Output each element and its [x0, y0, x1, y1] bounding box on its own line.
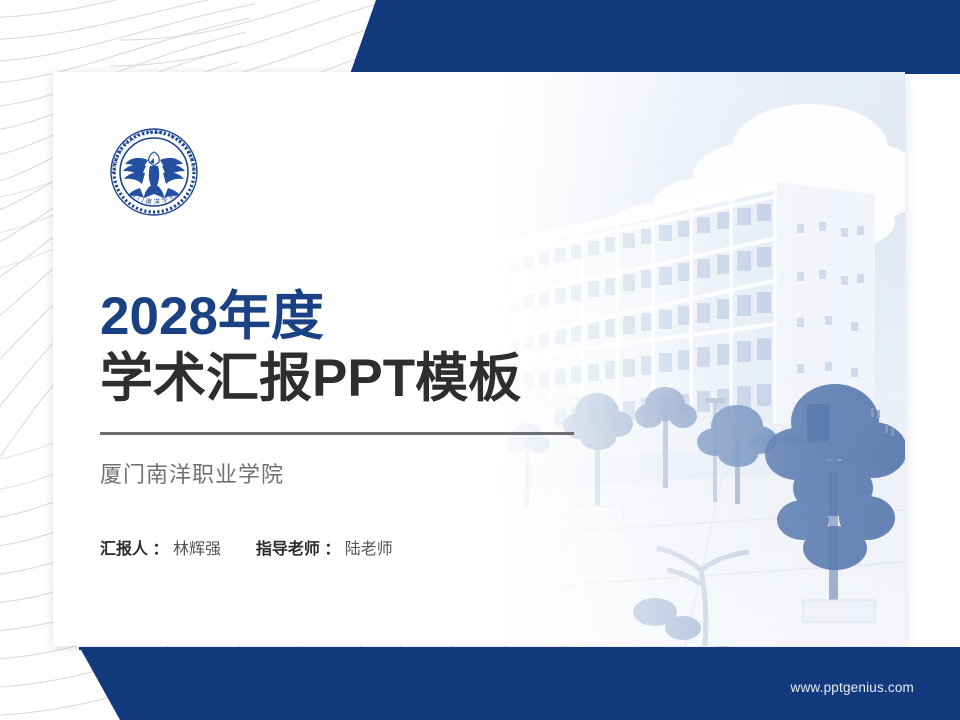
bottom-blue-diagonal-band: [0, 636, 960, 720]
year-title: 2028年度: [100, 288, 574, 345]
website-url: www.pptgenius.com: [791, 680, 914, 695]
presentation-slide: XIAMEN NANYANG UNIVERSITY 厦门南洋学院: [0, 0, 960, 720]
title-divider: [100, 432, 574, 435]
presenter-info: 汇报人 ： 林辉强 指导老师 ： 陆老师: [100, 535, 574, 559]
reporter-name: 林辉强: [173, 541, 221, 558]
advisor-label: 指导老师: [256, 541, 320, 558]
reporter-separator: ：: [152, 541, 168, 558]
advisor-separator: ：: [324, 541, 340, 558]
university-seal-logo: XIAMEN NANYANG UNIVERSITY 厦门南洋学院: [100, 118, 208, 226]
top-blue-diagonal-band: [0, 0, 960, 80]
advisor-name: 陆老师: [345, 541, 393, 558]
content-card: XIAMEN NANYANG UNIVERSITY 厦门南洋学院: [53, 72, 905, 646]
title-text-block: 2028年度 学术汇报PPT模板 厦门南洋职业学院 汇报人 ： 林辉强 指导老师…: [100, 288, 574, 559]
reporter-label: 汇报人: [100, 541, 148, 558]
school-name: 厦门南洋职业学院: [100, 457, 574, 489]
page-title: 学术汇报PPT模板: [100, 349, 574, 409]
